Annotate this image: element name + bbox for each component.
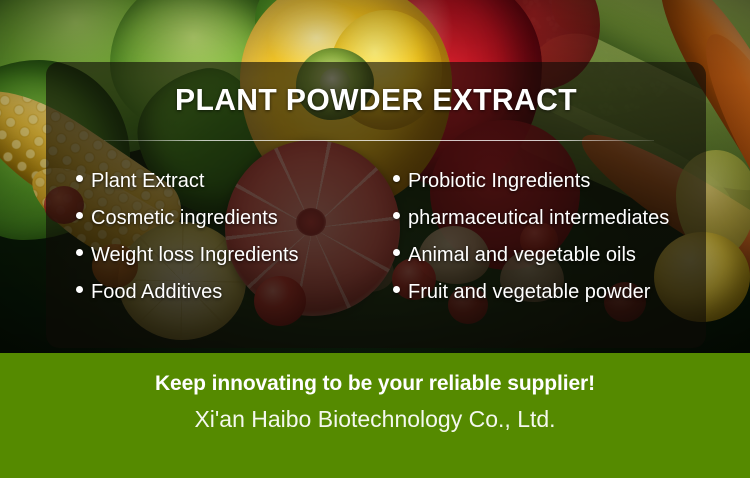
list-item-label: Probiotic Ingredients [408, 170, 590, 193]
bullet-icon [76, 286, 83, 293]
tagline-text: Keep innovating to be your reliable supp… [0, 372, 750, 396]
list-item-label: Animal and vegetable oils [408, 244, 636, 267]
list-item-label: pharmaceutical intermediates [408, 207, 669, 230]
list-item[interactable]: Fruit and vegetable powder [393, 281, 412, 318]
bullet-icon [393, 286, 400, 293]
bullet-icon [393, 175, 400, 182]
right-category-column: Probiotic Ingredients pharmaceutical int… [82, 170, 412, 318]
list-item[interactable]: Probiotic Ingredients [393, 170, 412, 207]
bullet-icon [393, 249, 400, 256]
bullet-icon [76, 249, 83, 256]
list-item-label: Fruit and vegetable powder [408, 281, 650, 304]
list-item[interactable]: pharmaceutical intermediates [393, 207, 412, 244]
product-banner: PLANT POWDER EXTRACT Plant Extract Cosme… [0, 0, 750, 478]
content-panel: PLANT POWDER EXTRACT Plant Extract Cosme… [46, 62, 706, 348]
company-name: Xi'an Haibo Biotechnology Co., Ltd. [0, 406, 750, 433]
title-divider [104, 140, 654, 141]
bullet-icon [76, 175, 83, 182]
page-title: PLANT POWDER EXTRACT [56, 82, 696, 118]
list-item[interactable]: Animal and vegetable oils [393, 244, 412, 281]
bullet-icon [393, 212, 400, 219]
product-category-lists: Plant Extract Cosmetic ingredients Weigh… [46, 170, 706, 318]
bullet-icon [76, 212, 83, 219]
